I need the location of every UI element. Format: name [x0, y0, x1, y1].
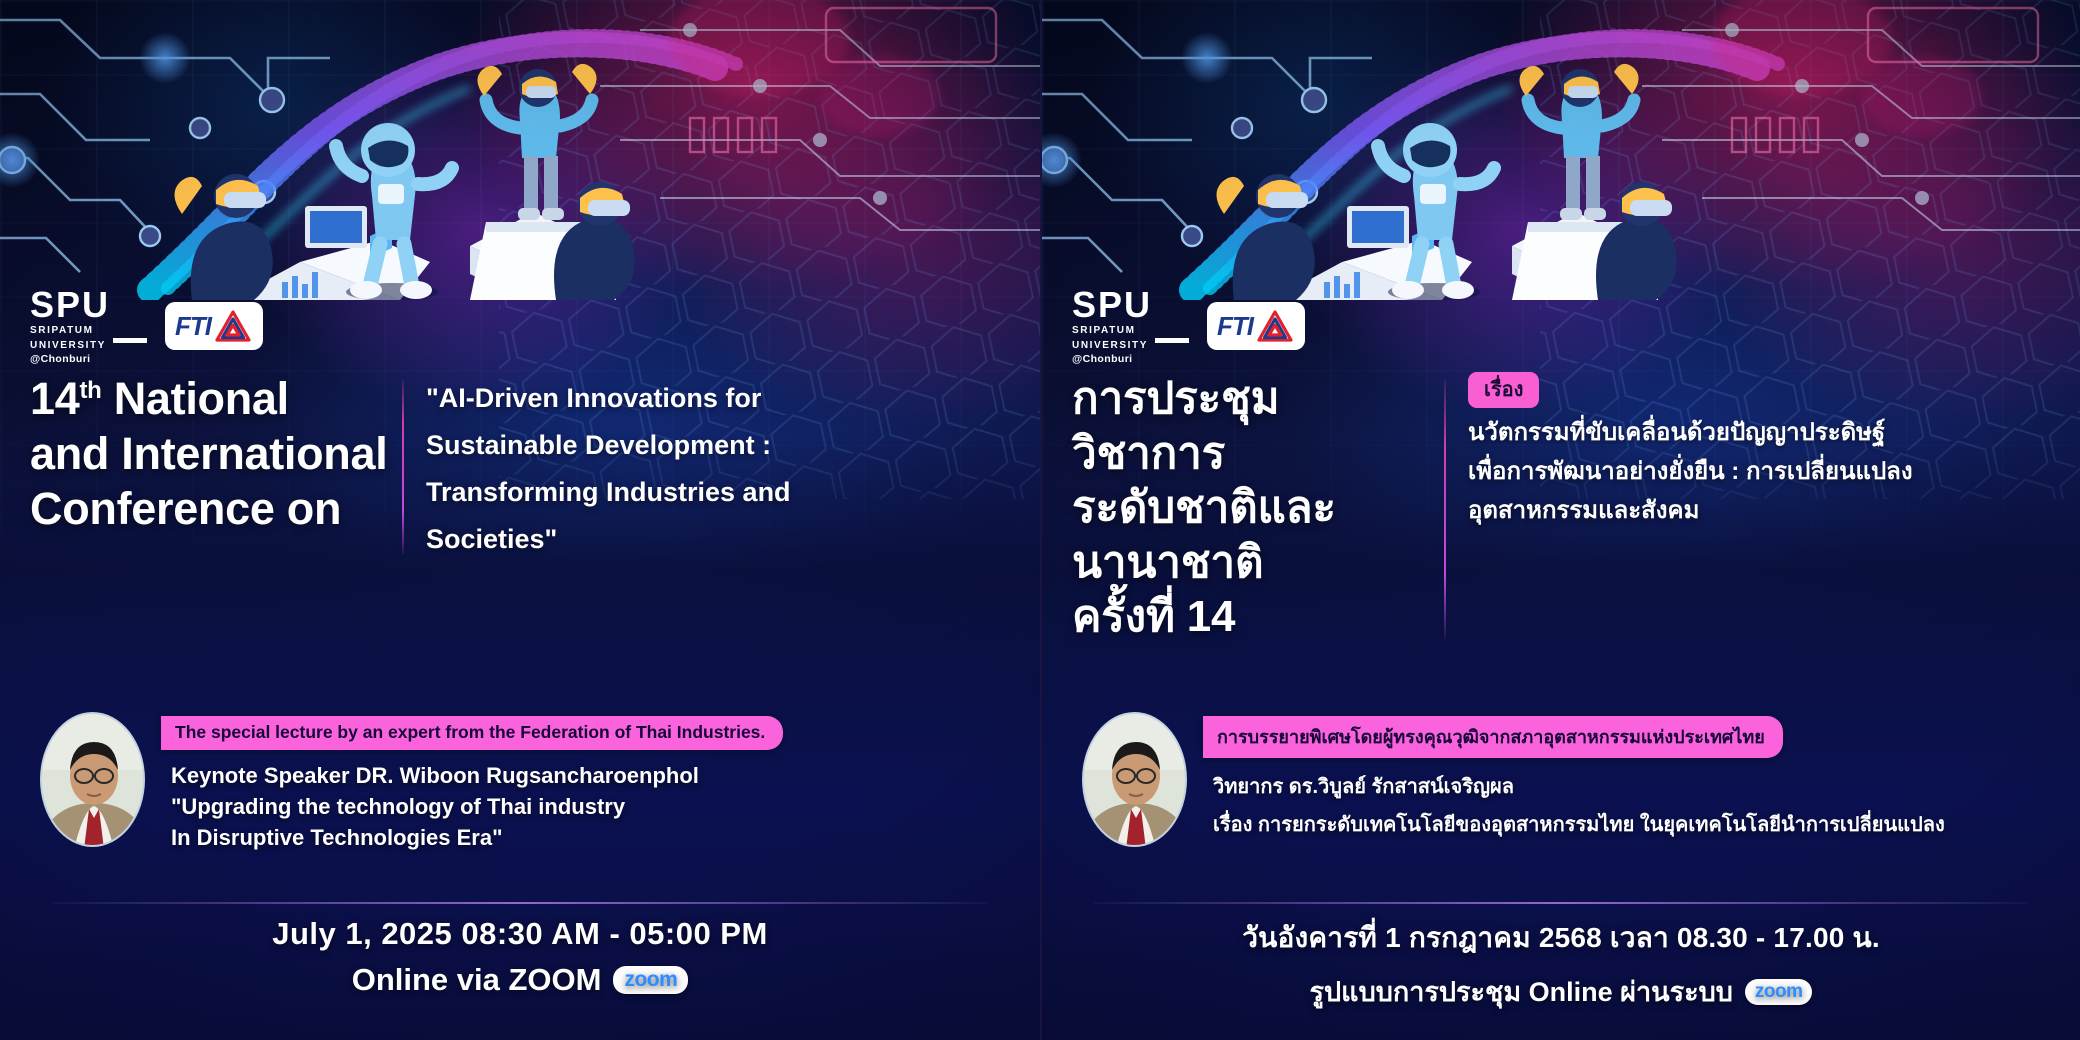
title-line-1: 14th National — [30, 372, 390, 427]
title-line-2: ระดับชาติและนานาชาติ — [1072, 481, 1432, 590]
fti-triangle-icon — [1255, 308, 1295, 344]
title-line-3: Conference on — [30, 482, 390, 537]
fti-logo: FTI — [1207, 302, 1305, 350]
poster-stage: SPU SRIPATUM UNIVERSITY @Chonburi FTI — [0, 0, 2080, 1040]
event-platform: Online via ZOOM zoom — [0, 962, 1040, 998]
title-ordinal-suffix: th — [79, 377, 101, 404]
spu-dash-icon — [1155, 338, 1189, 343]
theme-line-1: นวัตกรรมที่ขับเคลื่อนด้วยปัญญาประดิษฐ์ — [1468, 414, 1913, 453]
spu-campus: @Chonburi — [1072, 353, 1189, 365]
speaker-topic-line-2: In Disruptive Technologies Era" — [171, 822, 1000, 853]
spu-wordmark: SPU — [1072, 288, 1189, 322]
poster-panel-thai: SPU SRIPATUM UNIVERSITY @Chonburi FTI — [1040, 0, 2080, 1040]
spu-logo: SPU SRIPATUM UNIVERSITY @Chonburi — [1072, 288, 1189, 365]
spu-name-line2: UNIVERSITY — [30, 340, 106, 352]
spu-name-line1: SRIPATUM — [1072, 325, 1148, 337]
speaker-name-line: Keynote Speaker DR. Wiboon Rugsancharoen… — [171, 760, 1000, 791]
theme-line-2: Sustainable Development : — [426, 419, 791, 466]
speaker-topic-line-1: "Upgrading the technology of Thai indust… — [171, 791, 1000, 822]
theme-block: "AI-Driven Innovations for Sustainable D… — [426, 372, 791, 560]
theme-line-3: อุตสาหกรรมและสังคม — [1468, 492, 1913, 531]
speaker-section: การบรรยายพิเศษโดยผู้ทรงคุณวุฒิจากสภาอุตส… — [1082, 712, 2042, 847]
theme-line-3: Transforming Industries and — [426, 466, 791, 513]
zoom-logo: zoom — [1745, 979, 1813, 1005]
event-platform: รูปแบบการประชุม Online ผ่านระบบ zoom — [1042, 970, 2080, 1013]
title-block: 14th National and International Conferen… — [30, 372, 1010, 560]
footer-divider — [1094, 902, 2028, 904]
platform-label: Online via ZOOM — [352, 962, 602, 998]
fti-wordmark: FTI — [1217, 311, 1253, 342]
title-block: การประชุมวิชาการ ระดับชาติและนานาชาติ คร… — [1072, 372, 2052, 645]
event-datetime: July 1, 2025 08:30 AM - 05:00 PM — [0, 916, 1040, 952]
fti-logo: FTI — [165, 302, 263, 350]
speaker-portrait-icon — [42, 714, 145, 847]
title-divider — [402, 380, 404, 554]
spu-dash-icon — [113, 338, 147, 343]
speaker-details: Keynote Speaker DR. Wiboon Rugsancharoen… — [161, 760, 1000, 854]
theme-line-1: "AI-Driven Innovations for — [426, 372, 791, 419]
footer-section: วันอังคารที่ 1 กรกฎาคม 2568 เวลา 08.30 -… — [1042, 916, 2080, 1013]
footer-section: July 1, 2025 08:30 AM - 05:00 PM Online … — [0, 916, 1040, 998]
speaker-details: วิทยากร ดร.วิบูลย์ รักสาสน์เจริญผล เรื่อ… — [1203, 768, 2042, 844]
event-datetime: วันอังคารที่ 1 กรกฎาคม 2568 เวลา 08.30 -… — [1042, 916, 2080, 960]
title-line-1: การประชุมวิชาการ — [1072, 372, 1432, 481]
speaker-name-line: วิทยากร ดร.วิบูลย์ รักสาสน์เจริญผล — [1213, 768, 2042, 806]
theme-block: เรื่อง นวัตกรรมที่ขับเคลื่อนด้วยปัญญาประ… — [1468, 372, 1913, 645]
platform-label: รูปแบบการประชุม Online ผ่านระบบ — [1310, 970, 1733, 1013]
spu-logo: SPU SRIPATUM UNIVERSITY @Chonburi — [30, 288, 147, 365]
speaker-avatar — [40, 712, 145, 847]
poster-panel-english: SPU SRIPATUM UNIVERSITY @Chonburi FTI — [0, 0, 1040, 1040]
footer-divider — [52, 902, 988, 904]
title-ordinal-number: 14 — [30, 373, 79, 424]
spu-campus: @Chonburi — [30, 353, 147, 365]
title-divider — [1444, 380, 1446, 639]
speaker-portrait-icon — [1084, 714, 1187, 847]
logo-row: SPU SRIPATUM UNIVERSITY @Chonburi FTI — [1072, 288, 1305, 365]
spu-name-line2: UNIVERSITY — [1072, 340, 1148, 352]
fti-wordmark: FTI — [175, 311, 211, 342]
speaker-banner: The special lecture by an expert from th… — [161, 716, 783, 750]
logo-row: SPU SRIPATUM UNIVERSITY @Chonburi FTI — [30, 288, 263, 365]
main-title: การประชุมวิชาการ ระดับชาติและนานาชาติ คร… — [1072, 372, 1432, 645]
speaker-banner: การบรรยายพิเศษโดยผู้ทรงคุณวุฒิจากสภาอุตส… — [1203, 716, 1783, 758]
speaker-section: The special lecture by an expert from th… — [40, 712, 1000, 854]
speaker-avatar — [1082, 712, 1187, 847]
speaker-text: The special lecture by an expert from th… — [161, 712, 1000, 854]
speaker-text: การบรรยายพิเศษโดยผู้ทรงคุณวุฒิจากสภาอุตส… — [1203, 712, 2042, 844]
zoom-logo: zoom — [613, 966, 688, 994]
speaker-topic-line-1: เรื่อง การยกระดับเทคโนโลยีของอุตสาหกรรมไ… — [1213, 806, 2042, 844]
theme-badge: เรื่อง — [1468, 372, 1539, 408]
title-line-2: and International — [30, 427, 390, 482]
title-line-3: ครั้งที่ 14 — [1072, 590, 1432, 645]
main-title: 14th National and International Conferen… — [30, 372, 390, 560]
spu-name-line1: SRIPATUM — [30, 325, 106, 337]
theme-line-4: Societies" — [426, 513, 791, 560]
theme-line-2: เพื่อการพัฒนาอย่างยั่งยืน : การเปลี่ยนแป… — [1468, 453, 1913, 492]
spu-wordmark: SPU — [30, 288, 147, 322]
fti-triangle-icon — [213, 308, 253, 344]
